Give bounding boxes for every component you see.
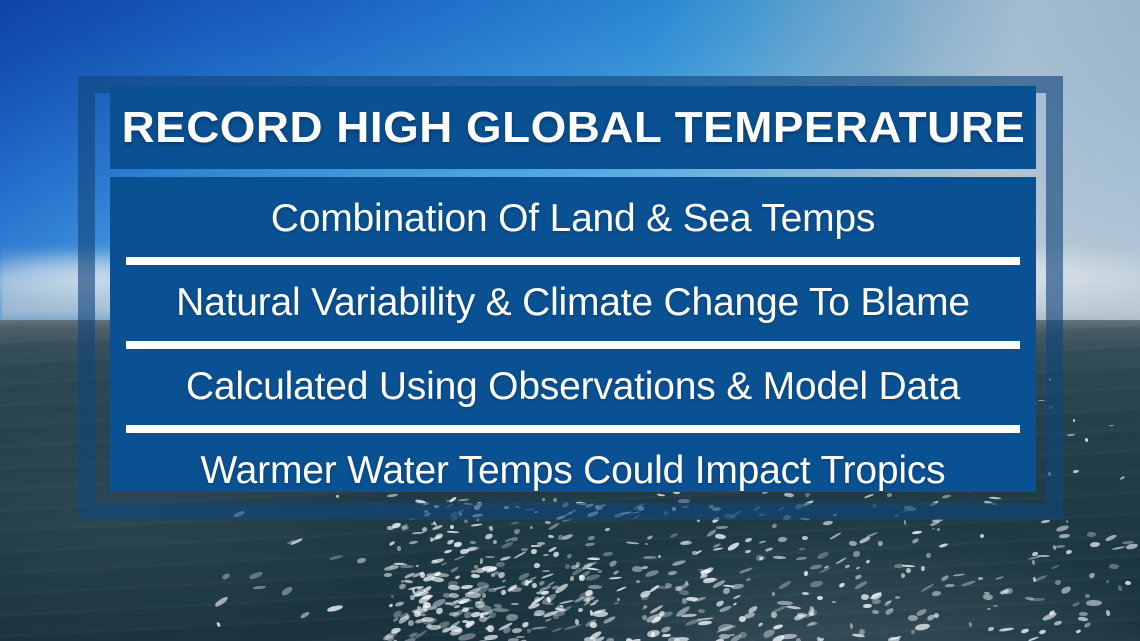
bullet-text: Warmer Water Temps Could Impact Tropics (201, 449, 946, 493)
info-card: RECORD HIGH GLOBAL TEMPERATURE Combinati… (110, 86, 1036, 492)
weather-graphic-stage: RECORD HIGH GLOBAL TEMPERATURE Combinati… (0, 0, 1140, 641)
bullet-text: Natural Variability & Climate Change To … (176, 281, 970, 325)
bullet-divider (126, 257, 1020, 265)
bullet-divider (126, 341, 1020, 349)
bullet-row: Natural Variability & Climate Change To … (110, 265, 1036, 341)
page-title: RECORD HIGH GLOBAL TEMPERATURE (121, 103, 1025, 153)
bullet-text: Combination Of Land & Sea Temps (271, 197, 875, 241)
bullet-divider (126, 425, 1020, 433)
bullet-row: Warmer Water Temps Could Impact Tropics (110, 433, 1036, 509)
bullet-row: Calculated Using Observations & Model Da… (110, 349, 1036, 425)
bullet-row: Combination Of Land & Sea Temps (110, 181, 1036, 257)
bullet-text: Calculated Using Observations & Model Da… (186, 365, 960, 409)
bullet-panel: Combination Of Land & Sea Temps Natural … (110, 177, 1036, 492)
title-banner: RECORD HIGH GLOBAL TEMPERATURE (110, 86, 1036, 169)
